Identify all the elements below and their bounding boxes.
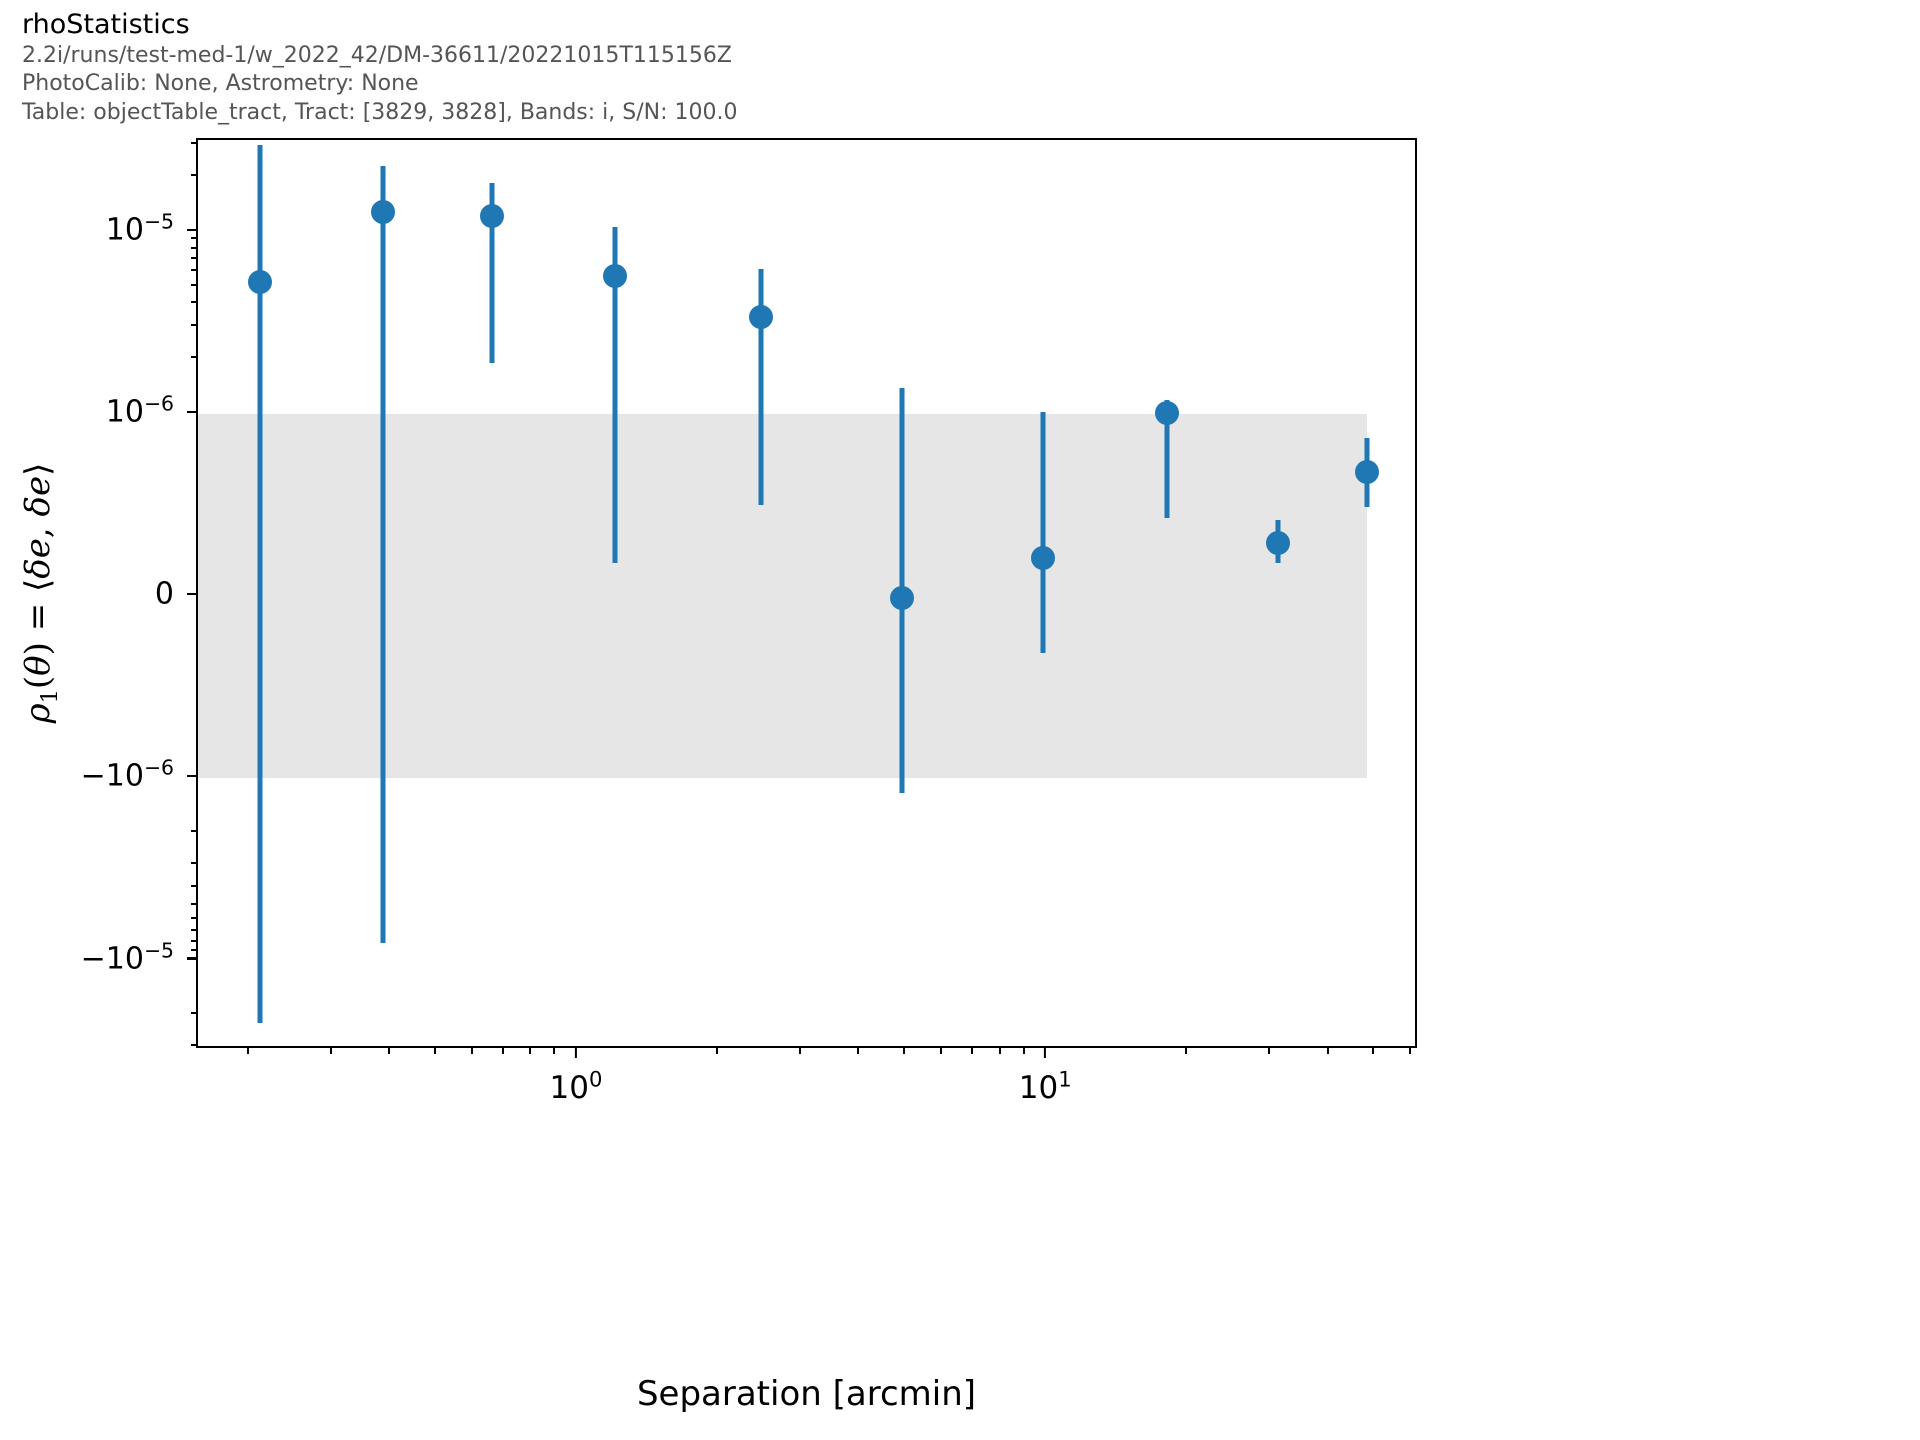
x-tick-minor [1327,1048,1329,1054]
y-tick-mark [187,957,196,959]
header-block: rhoStatistics 2.2i/runs/test-med-1/w_202… [22,8,1422,128]
x-tick-mark [575,1048,577,1058]
data-point [480,204,504,228]
x-tick-minor [716,1048,718,1054]
y-tick-minor [191,174,197,176]
x-tick-minor [799,1048,801,1054]
errorbar [758,269,763,506]
data-point [890,586,914,610]
y-tick-minor [191,301,197,303]
y-tick-minor [191,862,197,864]
y-tick-label: 0 [155,577,174,612]
y-tick-minor [191,142,197,144]
y-tick-minor [191,324,197,326]
data-point [1031,546,1055,570]
x-axis-tick-labels: 100101 [196,1070,1417,1120]
subtitle-line-collection: 2.2i/runs/test-med-1/w_2022_42/DM-36611/… [22,42,1422,71]
subtitle-line-calibration: PhotoCalib: None, Astrometry: None [22,70,1422,99]
data-point [749,305,773,329]
x-tick-minor [330,1048,332,1054]
x-tick-minor [940,1048,942,1054]
y-tick-label: −10−6 [81,759,174,794]
x-tick-minor [1023,1048,1025,1054]
page-title: rhoStatistics [22,8,1422,42]
y-tick-label: −10−5 [81,941,174,976]
y-tick-mark [187,411,196,413]
x-tick-minor [1372,1048,1374,1054]
x-tick-minor [247,1048,249,1054]
x-tick-minor [903,1048,905,1054]
y-tick-minor [191,269,197,271]
y-tick-minor [191,257,197,259]
y-tick-minor [191,1012,197,1014]
y-tick-label: 10−5 [106,213,174,248]
figure: rhoStatistics 2.2i/runs/test-med-1/w_202… [0,0,1920,1440]
y-tick-minor [191,247,197,249]
x-tick-minor [529,1048,531,1054]
data-point [1355,460,1379,484]
x-tick-minor [971,1048,973,1054]
y-tick-minor [191,903,197,905]
data-point [603,264,627,288]
x-tick-minor [388,1048,390,1054]
x-axis-label: Separation [arcmin] [196,1374,1417,1414]
y-tick-minor [191,940,197,942]
x-tick-label: 100 [549,1070,602,1106]
x-tick-minor [1185,1048,1187,1054]
y-tick-minor [191,949,197,951]
y-tick-minor [191,929,197,931]
x-tick-minor [434,1048,436,1054]
x-tick-minor [857,1048,859,1054]
plot-axes-area [196,138,1417,1048]
y-tick-mark [187,775,196,777]
y-tick-minor [191,917,197,919]
data-point [371,200,395,224]
y-axis-label: ρ1(θ) = ⟨δe, δe⟩ [18,463,58,724]
y-tick-label: 10−6 [106,395,174,430]
x-tick-label: 101 [1019,1070,1072,1106]
subtitle-line-table: Table: objectTable_tract, Tract: [3829, … [22,99,1422,128]
data-point [1266,531,1290,555]
x-tick-minor [1409,1048,1411,1054]
errorbar [381,166,386,943]
y-tick-mark [187,593,196,595]
y-tick-minor [191,237,197,239]
y-tick-minor [191,356,197,358]
y-tick-minor [191,885,197,887]
data-point [248,270,272,294]
y-tick-mark [187,229,196,231]
x-tick-minor [471,1048,473,1054]
x-tick-minor [999,1048,1001,1054]
data-point [1155,401,1179,425]
y-tick-minor [191,1044,197,1046]
reference-band [198,414,1367,778]
y-tick-minor [191,284,197,286]
x-tick-minor [1268,1048,1270,1054]
errorbar [1041,412,1046,653]
x-tick-mark [1044,1048,1046,1058]
y-tick-minor [191,830,197,832]
x-tick-minor [553,1048,555,1054]
x-tick-minor [502,1048,504,1054]
x-axis-ticks [196,1048,1417,1062]
